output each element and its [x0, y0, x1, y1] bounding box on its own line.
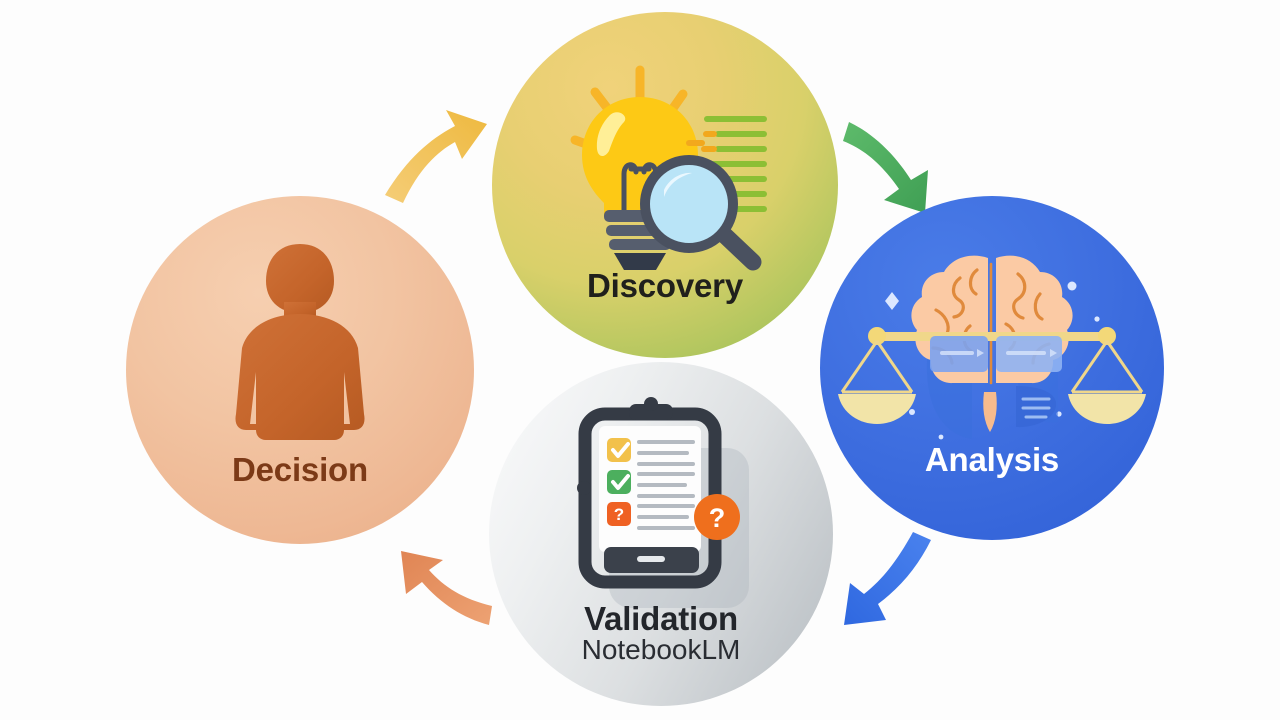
plaque-left: [930, 336, 988, 372]
node-label-discovery: Discovery: [492, 267, 838, 305]
clipboard-bottom-bar: [604, 547, 699, 573]
bulb-rays: [575, 70, 683, 149]
sparkles: [885, 282, 1100, 440]
node-validation[interactable]: ? ? Validation NotebookLM: [489, 362, 833, 706]
text-lines: [689, 119, 764, 209]
node-sublabel-validation: NotebookLM: [489, 634, 833, 666]
person-silhouette-icon: [126, 196, 474, 544]
brain-right: [996, 256, 1073, 383]
node-analysis[interactable]: Analysis: [820, 196, 1164, 540]
node-label-validation: Validation: [489, 600, 833, 638]
checkbox-yellow: [607, 438, 631, 462]
scale-pan-left: [838, 341, 916, 424]
question-badge: [694, 494, 740, 540]
brain-folds: [933, 264, 1049, 383]
arrow-discovery-to-analysis: [843, 122, 928, 213]
scale-beam: [873, 332, 1111, 341]
arrow-validation-to-decision: [401, 551, 492, 625]
checkbox-green: [607, 470, 631, 494]
magnifier: [645, 160, 753, 262]
clipboard-frame: [585, 414, 715, 582]
scale-pan-right: [1068, 341, 1146, 424]
svg-text:?: ?: [614, 505, 624, 524]
bulb-filament: [624, 165, 656, 217]
svg-text:?: ?: [709, 503, 726, 533]
arrow-decision-to-discovery: [385, 110, 487, 203]
clipboard-paper: [599, 426, 701, 552]
brain-left: [911, 256, 988, 383]
brain-stem: [983, 392, 997, 432]
lightbulb-magnifier-icon: [492, 12, 838, 358]
diagram-canvas: Discovery: [0, 0, 1280, 720]
person-head: [266, 244, 334, 313]
bulb-highlight: [597, 112, 625, 156]
checkbox-orange-question: [607, 502, 631, 526]
bulb-glass: [582, 97, 698, 216]
plaque-right: [996, 336, 1062, 372]
node-label-analysis: Analysis: [820, 441, 1164, 479]
bulb-base: [604, 210, 676, 270]
person-torso: [235, 314, 364, 440]
brain-scales-icon: [820, 196, 1164, 540]
arrow-analysis-to-validation: [844, 532, 931, 625]
node-decision[interactable]: Decision: [126, 196, 474, 544]
node-discovery[interactable]: Discovery: [492, 12, 838, 358]
node-label-decision: Decision: [126, 451, 474, 489]
